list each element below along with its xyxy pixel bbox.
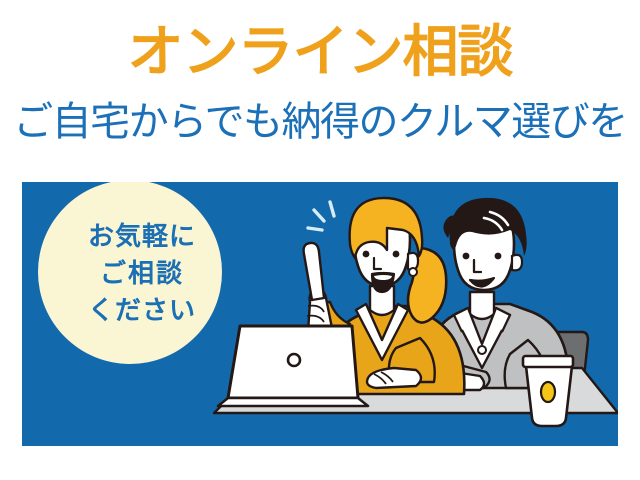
badge-circle: [38, 182, 222, 364]
laptop: [218, 326, 368, 406]
online-consultation-banner: オンライン相談 ご自宅からでも納得のクルマ選びを: [0, 0, 640, 480]
page-subtitle: ご自宅からでも納得のクルマ選びを: [0, 102, 640, 142]
page-title: オンライン相談: [0, 24, 640, 80]
coffee-cup: [523, 356, 573, 426]
headline-area: オンライン相談 ご自宅からでも納得のクルマ選びを: [0, 0, 640, 180]
consultation-illustration: [22, 182, 618, 446]
illustration-panel: お気軽に ご相談 ください: [22, 182, 618, 446]
